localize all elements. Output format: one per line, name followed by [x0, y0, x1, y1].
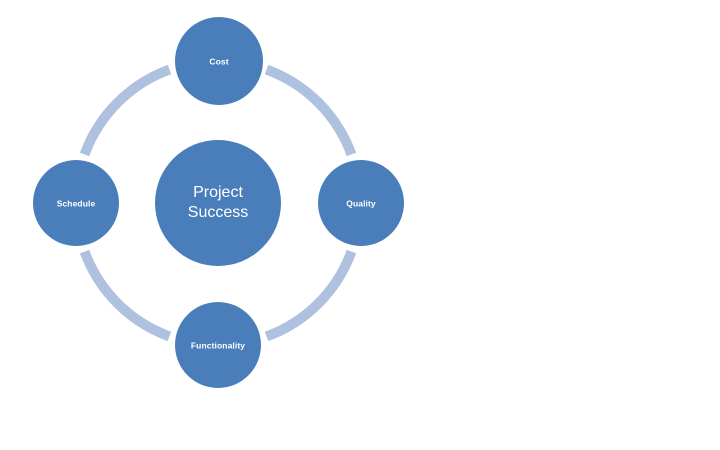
- diagram-canvas: CostQualityFunctionalityScheduleProjectS…: [0, 0, 720, 450]
- arc-functionality-schedule: [267, 252, 352, 337]
- node-label-cost: Cost: [209, 56, 228, 66]
- node-schedule[interactable]: Schedule: [33, 160, 119, 246]
- node-cost[interactable]: Cost: [175, 17, 263, 105]
- arc-cost-quality: [85, 70, 170, 155]
- node-functionality[interactable]: Functionality: [175, 302, 261, 388]
- nodes-group: CostQualityFunctionalityScheduleProjectS…: [33, 17, 404, 388]
- node-circle-center[interactable]: [155, 140, 281, 266]
- arc-schedule-cost: [85, 252, 170, 337]
- node-label-functionality: Functionality: [191, 340, 245, 350]
- project-success-diagram: CostQualityFunctionalityScheduleProjectS…: [0, 0, 720, 450]
- arc-quality-functionality: [267, 70, 352, 155]
- node-center[interactable]: ProjectSuccess: [155, 140, 281, 266]
- node-label-center-line-1: Project: [193, 184, 243, 201]
- node-label-quality: Quality: [346, 198, 376, 208]
- node-label-schedule: Schedule: [57, 198, 96, 208]
- node-quality[interactable]: Quality: [318, 160, 404, 246]
- node-label-center-line-2: Success: [188, 204, 248, 221]
